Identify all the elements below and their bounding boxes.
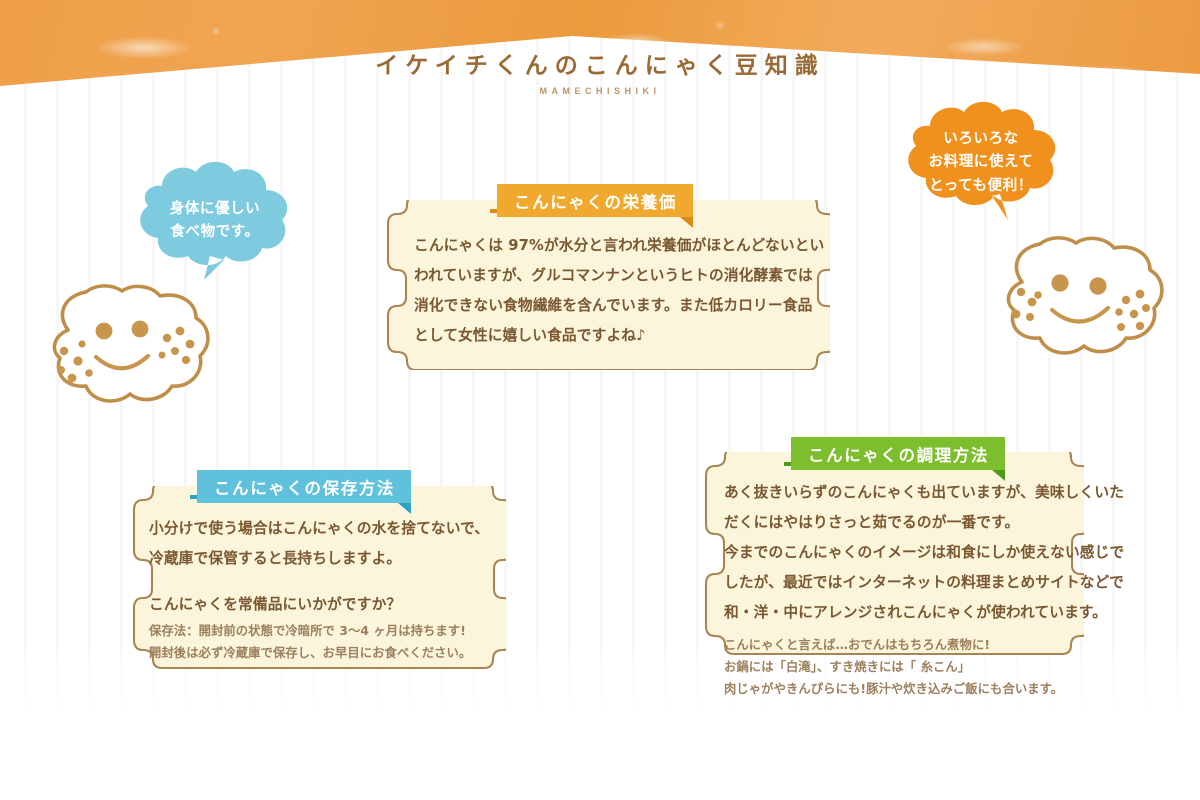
page-title: イケイチくんのこんにゃく豆知識: [0, 54, 1200, 79]
ribbon-nutrition-tail: [680, 217, 693, 228]
ribbon-cooking: こんにゃくの調理方法: [791, 437, 1005, 470]
panel-nutrition: こんにゃくは 97%が水分と言われ栄養価がほとんどないとい われていますが、グル…: [372, 200, 830, 370]
ribbon-cooking-label: こんにゃくの調理方法: [808, 442, 989, 466]
panel-cooking-text: あく抜きいらずのこんにゃくも出ていますが、美味しくいた だくにはやはりさっと茹で…: [724, 478, 1124, 700]
mascot-eye-right: [1089, 277, 1106, 294]
panel-storage: 小分けで使う場合はこんにゃくの水を捨てないで、 冷蔵庫で保管すると長持ちしますよ…: [118, 486, 506, 680]
spacer: [149, 574, 489, 590]
ribbon-nutrition-label: こんにゃくの栄養価: [514, 189, 677, 213]
mascot-body: [54, 286, 207, 401]
konjac-mascot-left: [34, 278, 224, 413]
mascot-eye-right: [132, 321, 149, 338]
page-root: イケイチくんのこんにゃく豆知識 MAMECHISHIKI: [0, 0, 1200, 800]
speech-bubble-blue: 身体に優しい 食べ物です。: [126, 160, 304, 282]
mascot-eye-left: [96, 323, 113, 340]
page-title-block: イケイチくんのこんにゃく豆知識 MAMECHISHIKI: [0, 54, 1200, 96]
ribbon-storage-label: こんにゃくの保存方法: [214, 475, 395, 499]
ribbon-storage-tail: [398, 503, 411, 514]
ribbon-storage: こんにゃくの保存方法: [197, 470, 411, 503]
page-subtitle: MAMECHISHIKI: [0, 86, 1200, 96]
mascot-eye-left: [1051, 274, 1068, 291]
ribbon-nutrition-nub: [490, 209, 497, 213]
panel-nutrition-text: こんにゃくは 97%が水分と言われ栄養価がほとんどないとい われていますが、グル…: [414, 231, 824, 351]
ribbon-storage-nub: [190, 495, 197, 499]
speech-bubble-orange-text: いろいろな お料理に使えて とっても便利！: [929, 128, 1034, 198]
speech-bubble-blue-text: 身体に優しい 食べ物です。: [170, 198, 261, 245]
panel-storage-text: 小分けで使う場合はこんにゃくの水を捨てないで、 冷蔵庫で保管すると長持ちしますよ…: [149, 514, 489, 664]
ribbon-cooking-nub: [784, 462, 791, 466]
konjac-mascot-right: [988, 228, 1178, 368]
panel-cooking: あく抜きいらずのこんにゃくも出ていますが、美味しくいた だくにはやはりさっと茹で…: [690, 452, 1084, 680]
ribbon-cooking-tail: [992, 470, 1005, 481]
speech-bubble-orange: いろいろな お料理に使えて とっても便利！: [896, 98, 1066, 228]
ribbon-nutrition: こんにゃくの栄養価: [497, 184, 693, 217]
